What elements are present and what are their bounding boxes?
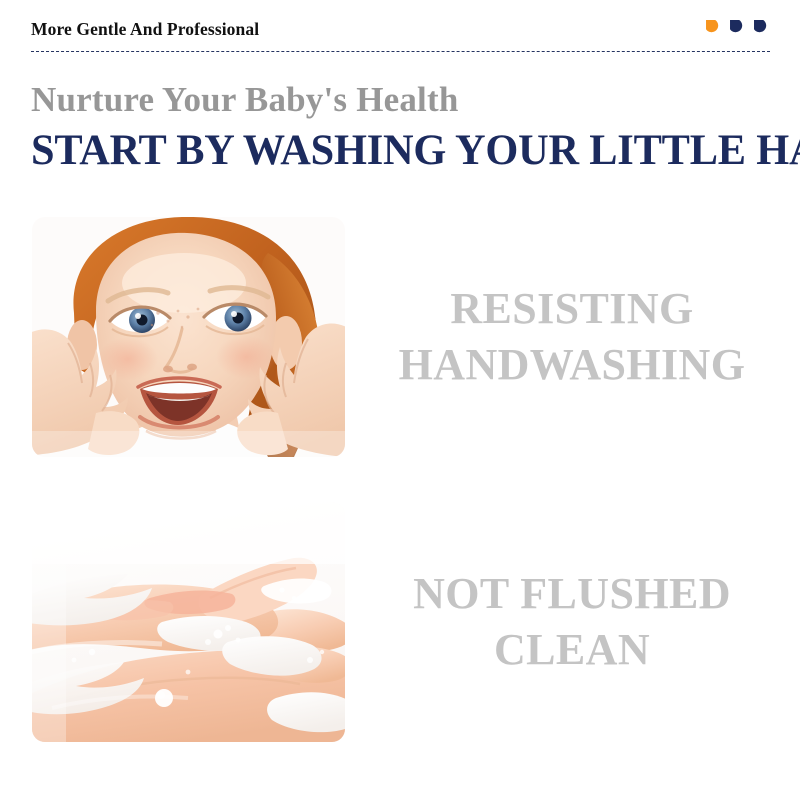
caption-text: RESISTING HANDWASHING xyxy=(382,281,762,393)
header: More Gentle And Professional xyxy=(31,18,770,54)
water-drop-navy-1-icon xyxy=(729,19,746,36)
water-drop-orange-icon xyxy=(705,19,722,36)
caption-text: NOT FLUSHED CLEAN xyxy=(382,566,762,678)
brand-tagline: More Gentle And Professional xyxy=(31,18,259,40)
water-drop-navy-2-icon xyxy=(753,19,770,36)
caption-not-flushed-clean: NOT FLUSHED CLEAN xyxy=(372,502,772,742)
child-face-photo xyxy=(32,217,345,457)
caption-resisting-handwashing: RESISTING HANDWASHING xyxy=(372,217,772,457)
brand-logo xyxy=(705,19,770,36)
soapy-hands-photo xyxy=(32,502,345,742)
content-row-resisting-handwashing: RESISTING HANDWASHING xyxy=(0,217,800,457)
header-dashed-divider xyxy=(31,51,770,52)
page-title: START BY WASHING YOUR LITTLE HANDS xyxy=(31,126,756,176)
page-subtitle: Nurture Your Baby's Health xyxy=(31,79,459,121)
soapy-hands-illustration xyxy=(32,502,345,742)
poster-canvas: More Gentle And Professional Nurture You… xyxy=(0,0,800,800)
content-row-not-flushed-clean: NOT FLUSHED CLEAN xyxy=(0,502,800,742)
child-face-illustration xyxy=(32,217,345,457)
